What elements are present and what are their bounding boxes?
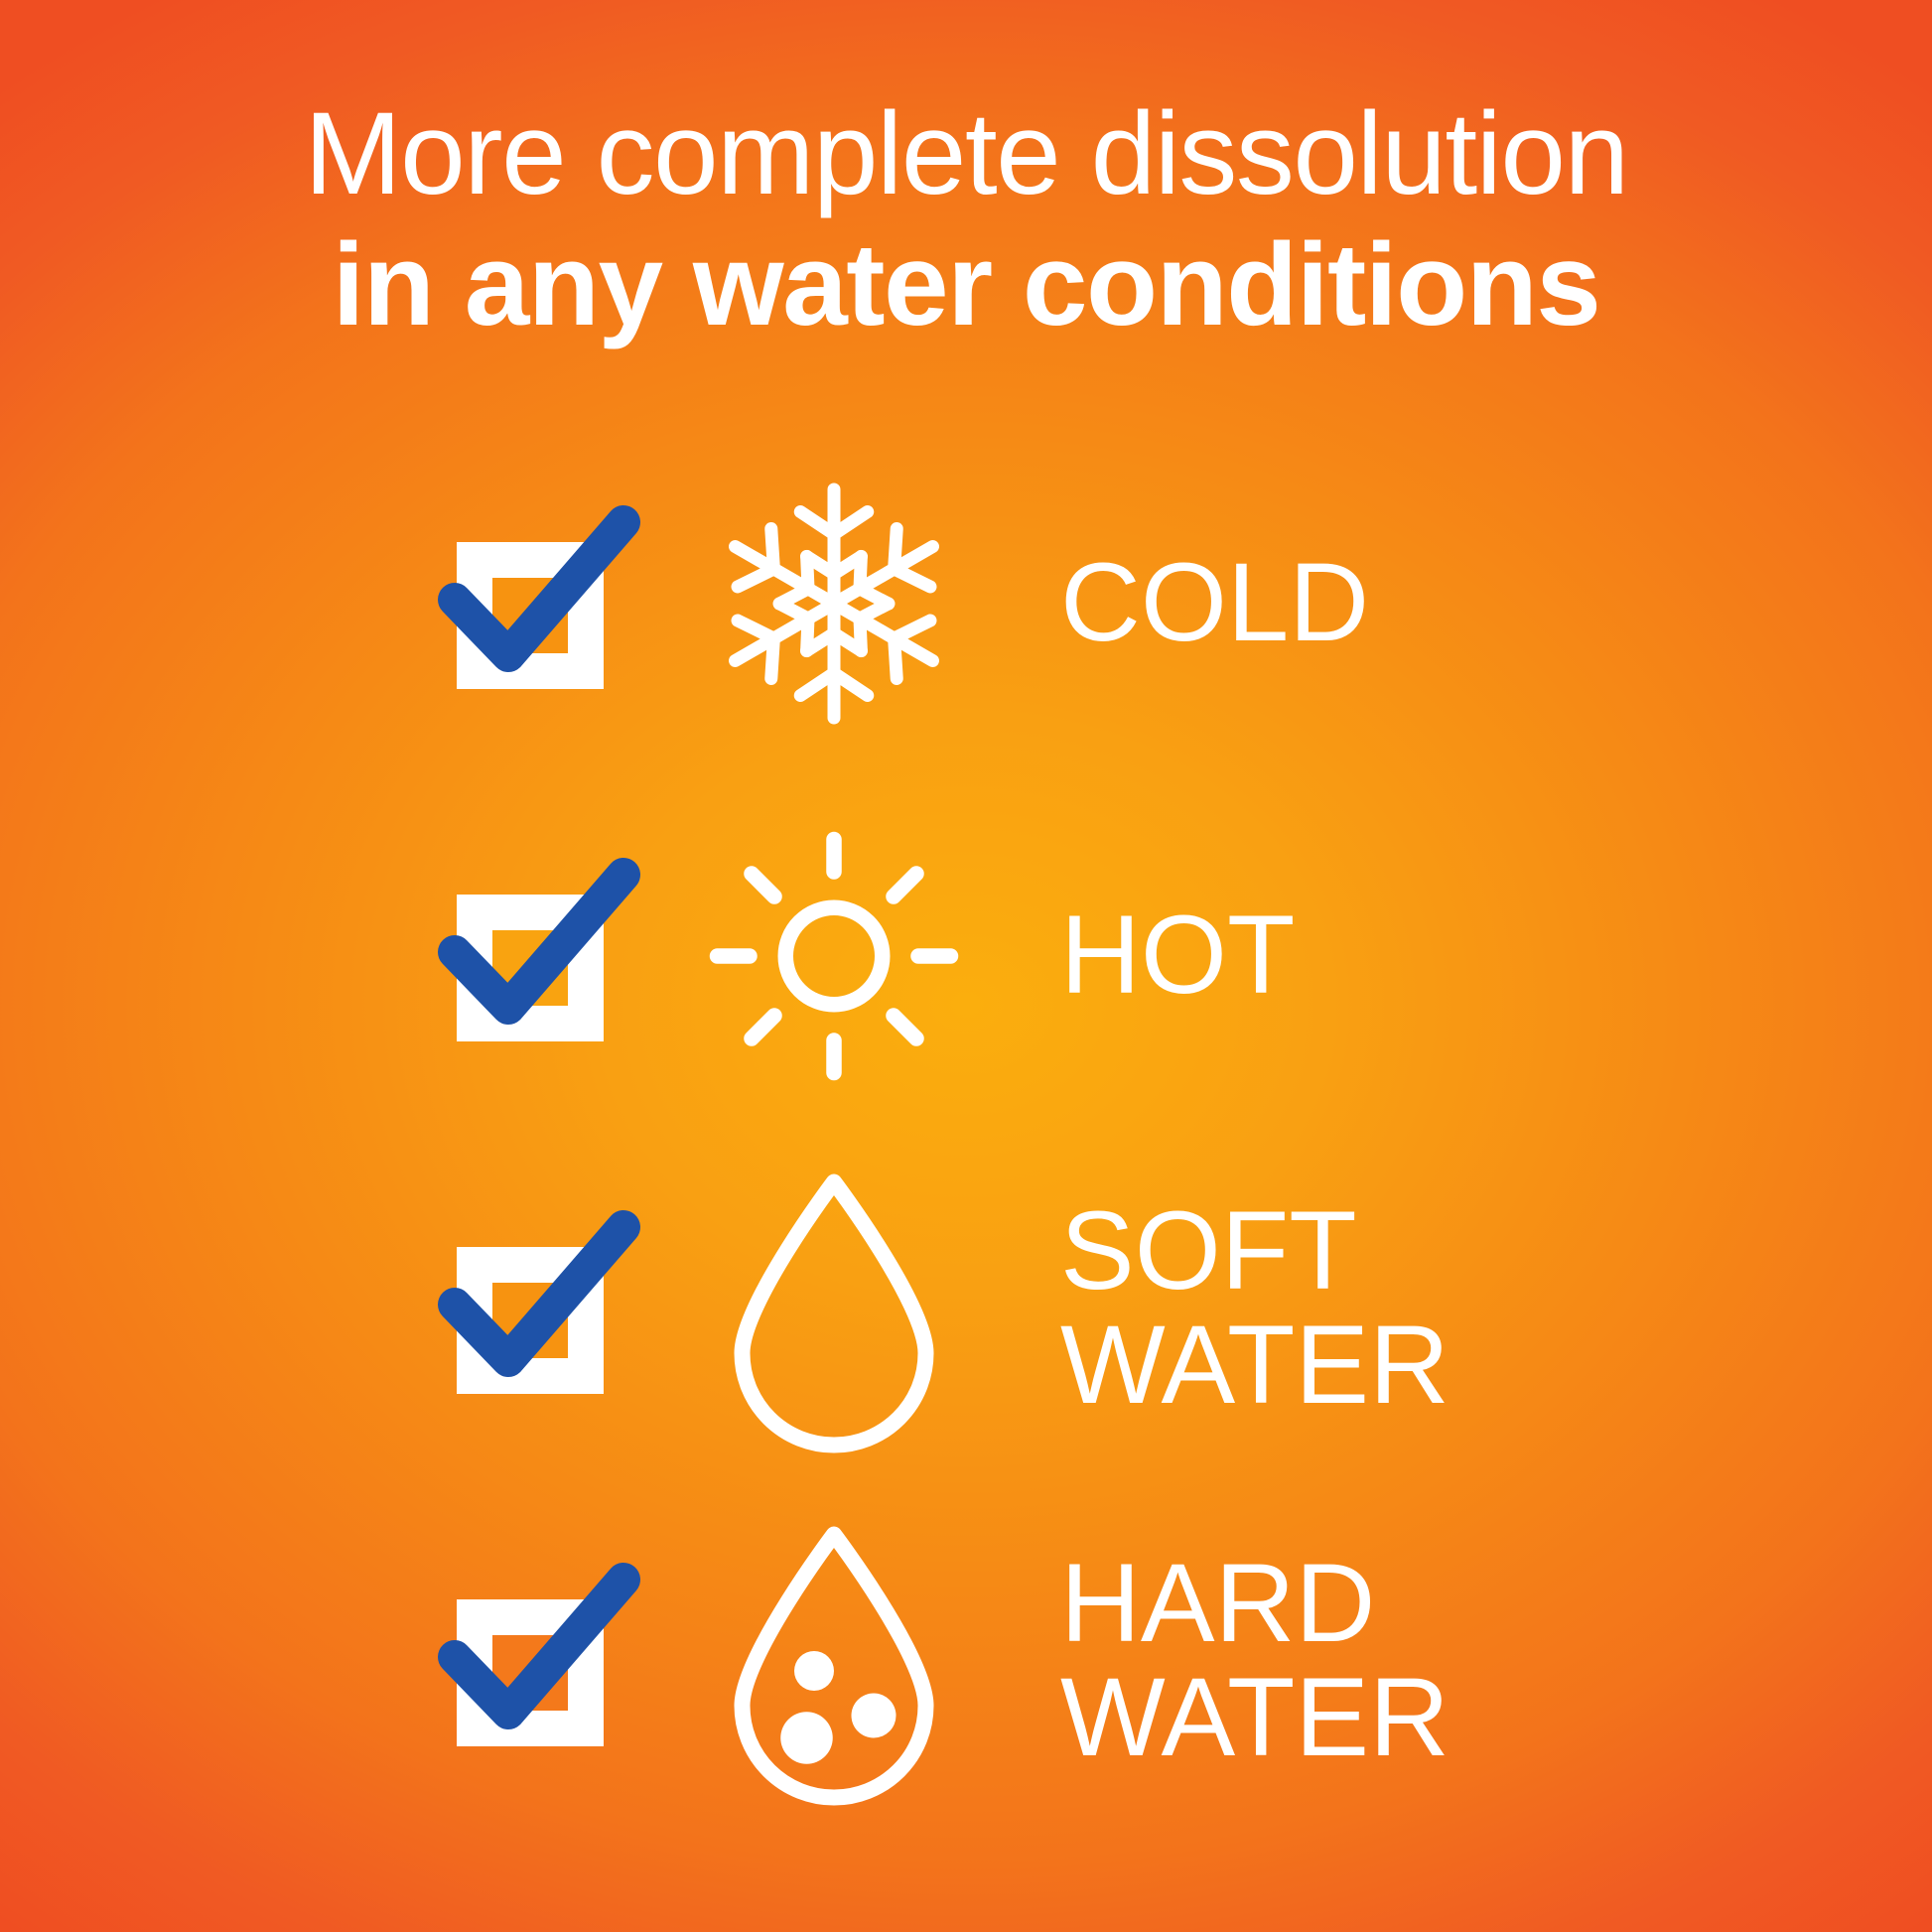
headline-line-2: in any water conditions <box>0 222 1932 347</box>
list-item-cold: COLD <box>0 427 1932 779</box>
checked-checkbox-icon[interactable] <box>449 1562 647 1760</box>
snowflake-icon <box>705 475 963 733</box>
condition-label-soft-water: SOFT WATER <box>1060 1194 1449 1421</box>
sun-icon <box>705 827 963 1085</box>
checked-checkbox-icon[interactable] <box>449 857 647 1055</box>
water-drop-icon <box>705 1179 963 1438</box>
conditions-list: COLD <box>0 427 1932 1837</box>
headline: More complete dissolution in any water c… <box>0 91 1932 348</box>
list-item-hard-water: HARD WATER <box>0 1484 1932 1837</box>
poster-canvas: More complete dissolution in any water c… <box>0 0 1932 1932</box>
condition-label-hot: HOT <box>1060 898 1295 1012</box>
mineral-dot-2 <box>780 1712 833 1764</box>
condition-label-hard-water: HARD WATER <box>1060 1547 1449 1773</box>
checked-checkbox-icon[interactable] <box>449 1209 647 1408</box>
hard-water-drop-icon <box>705 1532 963 1790</box>
headline-line-1: More complete dissolution <box>0 91 1932 216</box>
checked-checkbox-icon[interactable] <box>449 504 647 703</box>
list-item-soft-water: SOFT WATER <box>0 1132 1932 1484</box>
list-item-hot: HOT <box>0 779 1932 1132</box>
mineral-dot-1 <box>794 1651 834 1691</box>
mineral-dot-3 <box>852 1693 897 1737</box>
condition-label-cold: COLD <box>1060 546 1369 659</box>
